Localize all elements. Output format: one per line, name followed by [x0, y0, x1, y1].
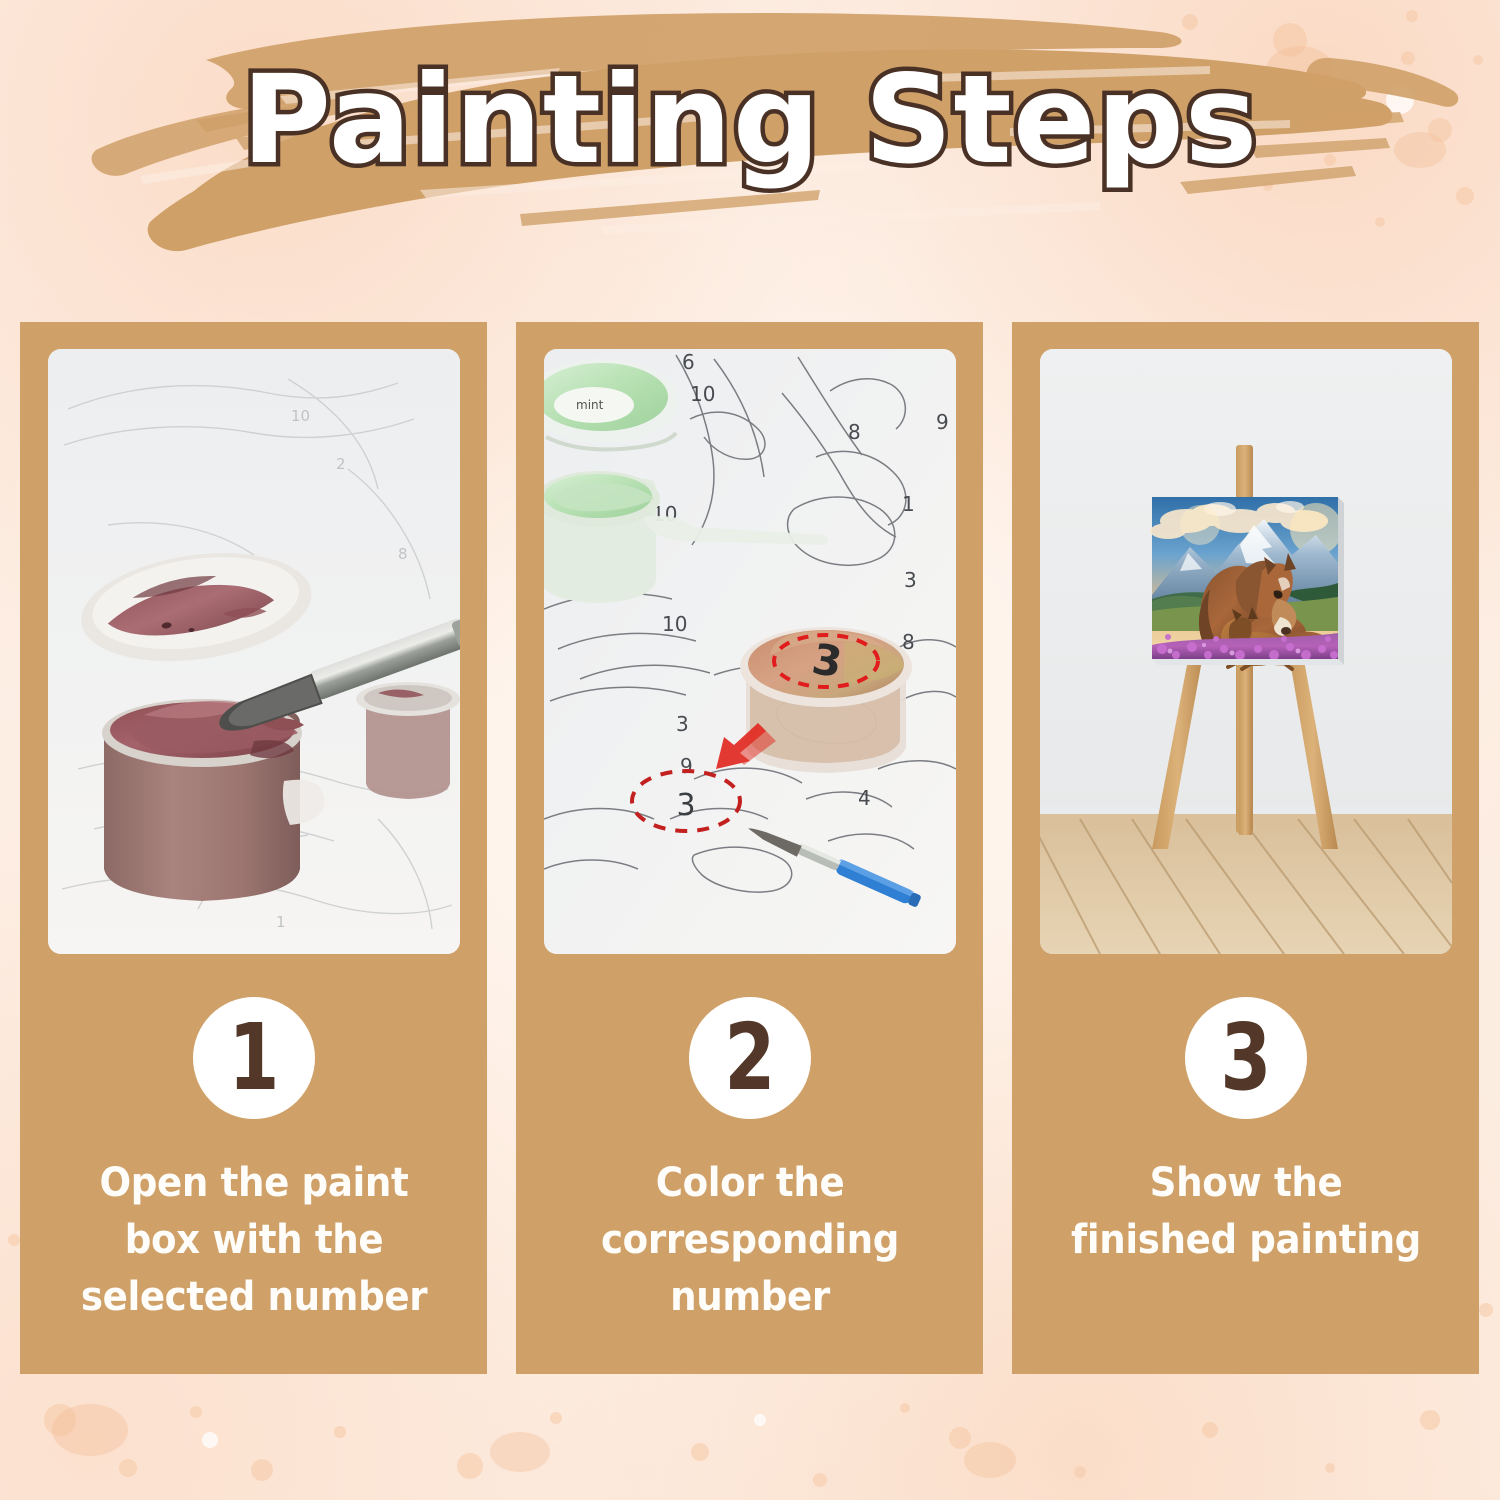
step-card-3: 3 Show the finished painting	[1012, 322, 1479, 1374]
step-number-3: 3	[1221, 1012, 1271, 1104]
svg-text:3: 3	[904, 568, 917, 592]
step-caption-3: Show the finished painting	[1063, 1155, 1428, 1269]
svg-text:mint: mint	[576, 398, 604, 412]
step-card-2: 6 10 8 9 10 1 3 10 8 1 3 3 9 4	[516, 322, 983, 1374]
svg-text:3: 3	[676, 788, 695, 823]
svg-text:9: 9	[936, 410, 949, 434]
page-title: Painting Steps	[0, 52, 1500, 189]
svg-text:10: 10	[291, 407, 310, 425]
step-number-badge-1: 1	[193, 997, 315, 1119]
match-number-photo: 6 10 8 9 10 1 3 10 8 1 3 3 9 4	[544, 349, 956, 954]
svg-text:1: 1	[902, 492, 915, 516]
svg-text:10: 10	[662, 612, 687, 636]
svg-text:2: 2	[336, 455, 346, 473]
step-caption-2: Color the corresponding number	[567, 1155, 932, 1325]
svg-text:6: 6	[682, 350, 695, 374]
svg-text:8: 8	[848, 420, 861, 444]
step-number-badge-2: 2	[689, 997, 811, 1119]
steps-container: 102 81	[20, 322, 1480, 1374]
open-paint-pot-photo: 102 81	[48, 349, 460, 954]
finished-painting-photo	[1040, 349, 1452, 954]
step-caption-1: Open the paint box with the selected num…	[71, 1155, 436, 1325]
step-card-1: 102 81	[20, 322, 487, 1374]
title-banner: Painting Steps	[0, 0, 1500, 262]
step-number-1: 1	[229, 1012, 279, 1104]
svg-text:10: 10	[690, 382, 715, 406]
step-number-badge-3: 3	[1185, 997, 1307, 1119]
svg-text:8: 8	[398, 545, 408, 563]
svg-text:9: 9	[680, 754, 693, 778]
svg-text:3: 3	[676, 712, 689, 736]
svg-text:4: 4	[858, 786, 871, 810]
svg-text:1: 1	[276, 913, 286, 931]
step-number-2: 2	[725, 1012, 775, 1104]
